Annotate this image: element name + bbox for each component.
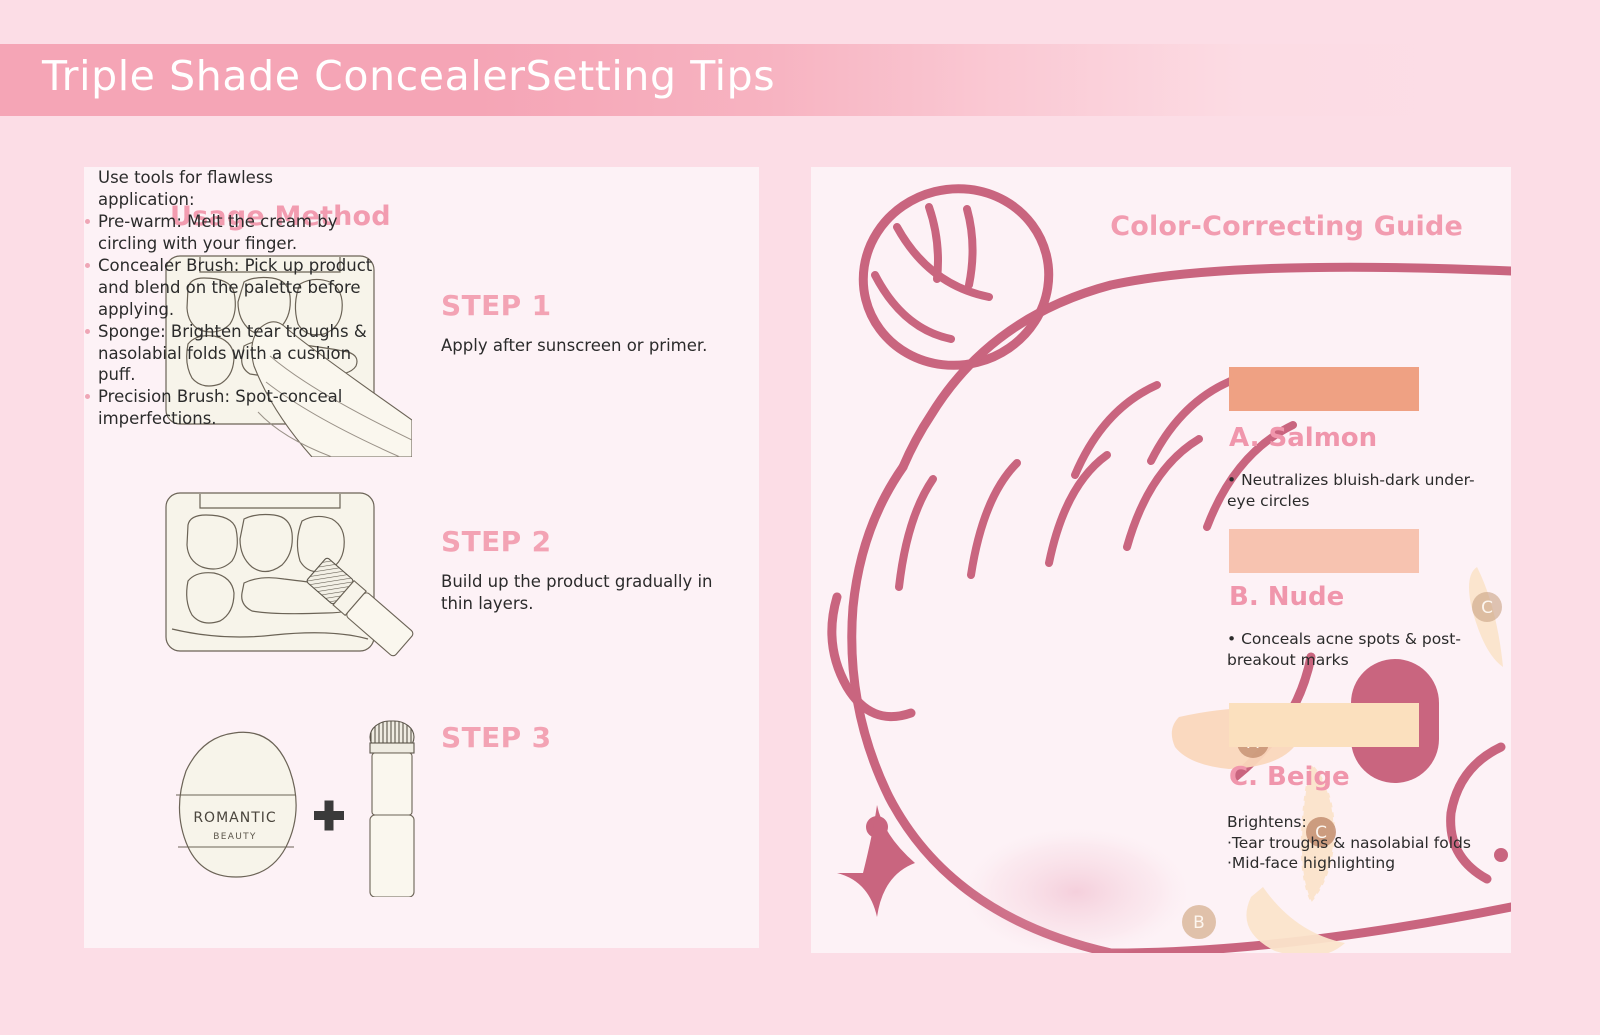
svg-text:BEAUTY: BEAUTY <box>213 832 256 842</box>
tool-list-item: Precision Brush: Spot-conceal imperfecti… <box>84 386 374 430</box>
infographic-page: Triple Shade ConcealerSetting Tips Usage… <box>0 0 1600 1035</box>
step-2-title: STEP 2 <box>441 525 552 558</box>
shade-name-salmon: A. Salmon <box>1229 423 1377 453</box>
shade-name-nude: B. Nude <box>1229 582 1344 612</box>
swatch-nude <box>1229 529 1419 573</box>
tool-list-item: Pre-warm: Melt the cream by circling wit… <box>84 211 374 255</box>
tool-label: Sponge: Brighten tear troughs & nasolabi… <box>98 322 367 385</box>
bullet-icon <box>85 263 90 268</box>
marker-label-b: B <box>1193 913 1205 933</box>
sponge-brush-illustration: ROMANTIC BEAUTY <box>162 707 462 897</box>
page-title: Triple Shade ConcealerSetting Tips <box>42 52 775 100</box>
palette-brush-illustration <box>162 489 417 679</box>
step-2-body: Build up the product gradually in thin l… <box>441 571 726 616</box>
swatch-beige <box>1229 703 1419 747</box>
shade-description-nude: • Conceals acne spots & post-breakout ma… <box>1227 629 1487 670</box>
usage-method-panel: Usage Method <box>84 167 759 948</box>
shade-name-beige: C. Beige <box>1229 762 1350 792</box>
marker-label-c3: C <box>1481 598 1493 618</box>
sponge-brand-primary: ROMANTIC <box>193 810 276 826</box>
tool-label: Pre-warm: Melt the cream by circling wit… <box>98 212 337 253</box>
step-3-title: STEP 3 <box>441 721 552 754</box>
color-correcting-panel: A C B C C Color-Correcting Guide A. Salm… <box>811 167 1511 953</box>
tool-list-item: Concealer Brush: Pick up product and ble… <box>84 255 374 321</box>
swatch-salmon <box>1229 367 1419 411</box>
bullet-icon <box>85 394 90 399</box>
shade-description-beige: Brightens: ·Tear troughs & nasolabial fo… <box>1227 812 1487 874</box>
tool-label: Concealer Brush: Pick up product and ble… <box>98 256 372 319</box>
step-1-title: STEP 1 <box>441 289 552 322</box>
tool-label: Precision Brush: Spot-conceal imperfecti… <box>98 387 342 428</box>
step-1-body: Apply after sunscreen or primer. <box>441 335 731 357</box>
color-correcting-heading: Color-Correcting Guide <box>1110 211 1463 242</box>
tool-list-item: Sponge: Brighten tear troughs & nasolabi… <box>84 321 374 387</box>
bullet-icon <box>85 329 90 334</box>
shade-description-salmon: • Neutralizes bluish-dark under-eye circ… <box>1227 470 1487 511</box>
bullet-icon <box>85 219 90 224</box>
